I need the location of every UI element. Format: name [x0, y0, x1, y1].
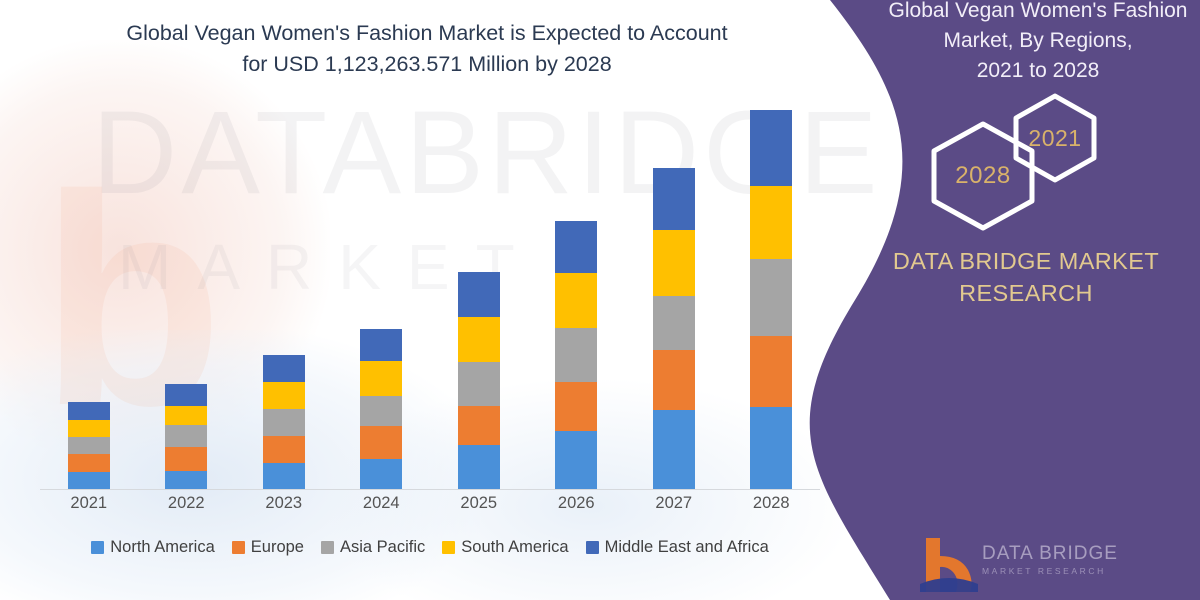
bar-segment-2028-north-america — [750, 407, 792, 489]
legend-item-asia-pacific[interactable]: Asia Pacific — [321, 538, 425, 557]
bar-segment-2023-europe — [263, 436, 305, 463]
legend-swatch-icon — [232, 541, 245, 554]
legend-item-label: Asia Pacific — [340, 538, 425, 557]
bar-segment-2024-north-america — [360, 459, 402, 489]
bar-segment-2027-europe — [653, 350, 695, 410]
brand-name: DATA BRIDGE MARKET RESEARCH — [876, 246, 1176, 309]
bar-segment-2028-europe — [750, 336, 792, 406]
legend-swatch-icon — [91, 541, 104, 554]
bar-segment-2024-asia-pacific — [360, 396, 402, 426]
dbmr-logo-tagline: MARKET RESEARCH — [982, 566, 1118, 577]
bar-segment-2026-middle-east-and-africa — [555, 221, 597, 273]
bar-segment-2022-south-america — [165, 406, 207, 426]
stacked-bar-chart — [40, 100, 820, 490]
legend-swatch-icon — [321, 541, 334, 554]
bar-segment-2027-south-america — [653, 230, 695, 296]
bar-2022 — [165, 384, 207, 489]
brand-name-line-2: RESEARCH — [959, 280, 1093, 306]
bar-segment-2023-asia-pacific — [263, 409, 305, 436]
bar-segment-2021-asia-pacific — [68, 437, 110, 454]
x-axis-tick-labels: 20212022202320242025202620272028 — [40, 494, 820, 524]
dbmr-logo-name: DATA BRIDGE — [982, 543, 1118, 564]
bar-segment-2027-middle-east-and-africa — [653, 168, 695, 230]
legend-item-north-america[interactable]: North America — [91, 538, 215, 557]
bar-segment-2024-middle-east-and-africa — [360, 329, 402, 362]
infographic-canvas: b DATABRIDGE MARKET Global Vegan Women's… — [0, 0, 1200, 600]
bar-segment-2023-middle-east-and-africa — [263, 355, 305, 382]
bar-segment-2026-asia-pacific — [555, 328, 597, 382]
bar-segment-2022-middle-east-and-africa — [165, 384, 207, 406]
hexagon-badges: 2028 2021 — [922, 92, 1132, 232]
legend-item-europe[interactable]: Europe — [232, 538, 304, 557]
x-axis-line — [40, 489, 820, 490]
bar-segment-2022-europe — [165, 447, 207, 471]
legend-item-label: North America — [110, 538, 215, 557]
brand-panel: Global Vegan Women's Fashion Market, By … — [800, 0, 1200, 600]
page-title-line-2: for USD 1,123,263.571 Million by 2028 — [242, 52, 611, 76]
bar-segment-2021-north-america — [68, 472, 110, 489]
bridge-b-logo-icon — [920, 536, 978, 592]
legend-swatch-icon — [442, 541, 455, 554]
x-axis-label-2026: 2026 — [536, 494, 616, 513]
bar-segment-2023-north-america — [263, 463, 305, 489]
page-title-line-1: Global Vegan Women's Fashion Market is E… — [126, 21, 727, 45]
x-axis-label-2028: 2028 — [731, 494, 811, 513]
chart-legend: North AmericaEuropeAsia PacificSouth Ame… — [40, 538, 820, 557]
x-axis-label-2022: 2022 — [146, 494, 226, 513]
dbmr-logo-text: DATA BRIDGE MARKET RESEARCH — [982, 542, 1118, 576]
x-axis-label-2025: 2025 — [439, 494, 519, 513]
bar-segment-2024-europe — [360, 426, 402, 459]
bar-segment-2021-south-america — [68, 420, 110, 437]
bar-segment-2025-asia-pacific — [458, 362, 500, 405]
legend-item-middle-east-and-africa[interactable]: Middle East and Africa — [586, 538, 769, 557]
bar-2025 — [458, 272, 500, 489]
bar-segment-2026-south-america — [555, 273, 597, 327]
x-axis-label-2023: 2023 — [244, 494, 324, 513]
page-title: Global Vegan Women's Fashion Market is E… — [62, 18, 792, 79]
bar-2024 — [360, 329, 402, 489]
legend-item-label: Middle East and Africa — [605, 538, 769, 557]
bar-segment-2021-europe — [68, 454, 110, 471]
bar-segment-2025-south-america — [458, 317, 500, 363]
bar-segment-2028-middle-east-and-africa — [750, 110, 792, 186]
bar-segment-2028-asia-pacific — [750, 259, 792, 336]
bar-segment-2025-north-america — [458, 445, 500, 489]
panel-title-line-2: Market, By Regions, — [943, 29, 1132, 52]
chart-plot-area — [40, 100, 820, 490]
bar-segment-2026-north-america — [555, 431, 597, 490]
bar-segment-2028-south-america — [750, 186, 792, 260]
panel-title: Global Vegan Women's Fashion Market, By … — [800, 0, 1200, 85]
legend-item-label: Europe — [251, 538, 304, 557]
bar-segment-2021-middle-east-and-africa — [68, 402, 110, 419]
x-axis-label-2024: 2024 — [341, 494, 421, 513]
legend-item-south-america[interactable]: South America — [442, 538, 568, 557]
bar-segment-2025-europe — [458, 406, 500, 445]
x-axis-label-2021: 2021 — [49, 494, 129, 513]
panel-title-line-3: 2021 to 2028 — [977, 59, 1100, 82]
hexagon-badge-2021: 2021 — [1010, 92, 1100, 184]
bar-2028 — [750, 110, 792, 489]
bar-segment-2027-north-america — [653, 410, 695, 489]
brand-name-line-1: DATA BRIDGE MARKET — [893, 248, 1159, 274]
hexagon-badge-2028-label: 2028 — [955, 162, 1010, 190]
bar-segment-2022-north-america — [165, 471, 207, 489]
hexagon-badge-2021-label: 2021 — [1028, 125, 1081, 152]
bar-segment-2025-middle-east-and-africa — [458, 272, 500, 316]
bar-segment-2022-asia-pacific — [165, 425, 207, 447]
bar-segment-2026-europe — [555, 382, 597, 431]
bar-segment-2024-south-america — [360, 361, 402, 396]
bar-2027 — [653, 168, 695, 489]
dbmr-logo: DATA BRIDGE MARKET RESEARCH — [920, 536, 1190, 600]
bar-segment-2027-asia-pacific — [653, 296, 695, 350]
legend-swatch-icon — [586, 541, 599, 554]
panel-title-line-1: Global Vegan Women's Fashion — [889, 0, 1188, 22]
bar-2021 — [68, 402, 110, 489]
x-axis-label-2027: 2027 — [634, 494, 714, 513]
bar-2026 — [555, 221, 597, 489]
bar-2023 — [263, 355, 305, 489]
legend-item-label: South America — [461, 538, 568, 557]
bar-segment-2023-south-america — [263, 382, 305, 409]
